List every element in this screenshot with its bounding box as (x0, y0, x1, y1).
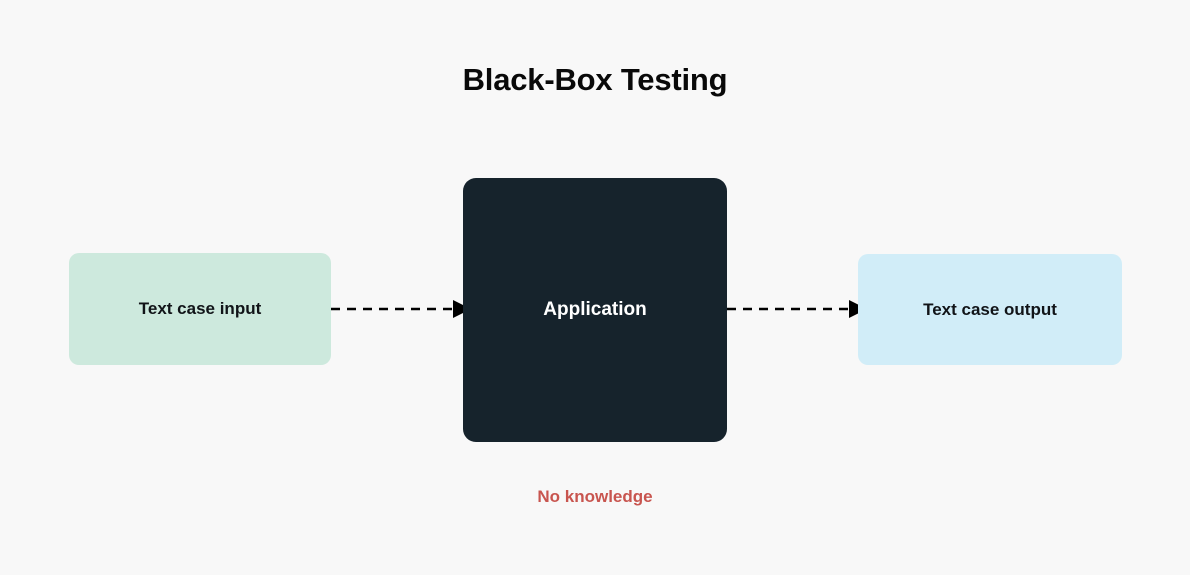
node-text-case-input[interactable]: Text case input (69, 253, 331, 365)
dashed-arrow-icon (727, 293, 867, 325)
node-text-case-output[interactable]: Text case output (858, 254, 1122, 365)
arrow-application-to-output (727, 293, 867, 325)
no-knowledge-caption: No knowledge (463, 485, 727, 509)
diagram-canvas: Black-Box Testing Text case input Applic… (0, 0, 1190, 575)
node-input-label: Text case input (139, 298, 262, 320)
node-application[interactable]: Application (463, 178, 727, 442)
node-output-label: Text case output (923, 299, 1057, 321)
page-title: Black-Box Testing (0, 58, 1190, 102)
arrow-input-to-application (331, 293, 471, 325)
node-application-label: Application (543, 299, 646, 321)
dashed-arrow-icon (331, 293, 471, 325)
